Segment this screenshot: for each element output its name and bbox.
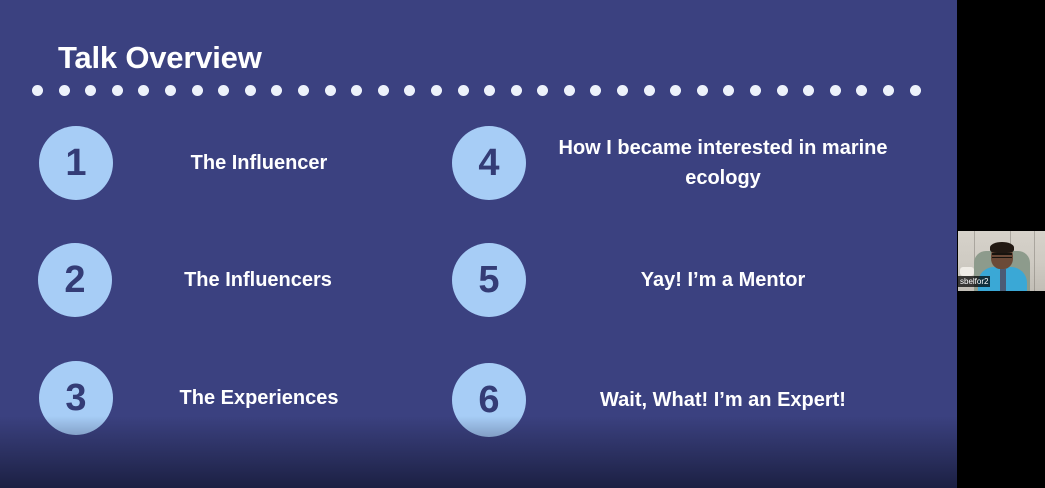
divider-dot bbox=[644, 85, 655, 96]
participant-glasses bbox=[992, 253, 1012, 258]
divider-dot bbox=[590, 85, 601, 96]
participant-video-tile[interactable]: sbelfor2 bbox=[958, 231, 1045, 291]
agenda-item-label: Wait, What! I’m an Expert! bbox=[548, 385, 898, 415]
divider-dot bbox=[138, 85, 149, 96]
agenda-item-label: The Experiences bbox=[135, 383, 383, 413]
divider-dot bbox=[830, 85, 841, 96]
divider-dot bbox=[218, 85, 229, 96]
divider-dot bbox=[458, 85, 469, 96]
divider-dot bbox=[32, 85, 43, 96]
agenda-item-6: 6 Wait, What! I’m an Expert! bbox=[452, 363, 898, 437]
agenda-item-label: Yay! I’m a Mentor bbox=[548, 265, 898, 295]
divider-dot bbox=[564, 85, 575, 96]
participant-name-label: sbelfor2 bbox=[958, 276, 990, 287]
divider-dot bbox=[351, 85, 362, 96]
agenda-number-badge: 4 bbox=[452, 126, 526, 200]
page-title: Talk Overview bbox=[58, 40, 262, 76]
divider-dot bbox=[484, 85, 495, 96]
divider-dot bbox=[617, 85, 628, 96]
divider-dot bbox=[165, 85, 176, 96]
agenda-item-5: 5 Yay! I’m a Mentor bbox=[452, 243, 898, 317]
divider-dot bbox=[431, 85, 442, 96]
agenda-item-label: The Influencer bbox=[135, 148, 383, 178]
agenda-item-label: The Influencers bbox=[134, 265, 382, 295]
divider-dot bbox=[856, 85, 867, 96]
divider-dot bbox=[271, 85, 282, 96]
divider-dot bbox=[59, 85, 70, 96]
divider-dot bbox=[511, 85, 522, 96]
participant-hair bbox=[990, 242, 1014, 253]
divider-dot bbox=[697, 85, 708, 96]
presentation-slide: Talk Overview 1 The Influencer 2 The Inf… bbox=[0, 0, 957, 488]
desk-object bbox=[960, 267, 974, 276]
agenda-number-badge: 6 bbox=[452, 363, 526, 437]
divider-dot bbox=[192, 85, 203, 96]
divider-dot bbox=[298, 85, 309, 96]
agenda-item-2: 2 The Influencers bbox=[38, 243, 382, 317]
divider-dot bbox=[404, 85, 415, 96]
screen-share-stage: Talk Overview 1 The Influencer 2 The Inf… bbox=[0, 0, 1045, 488]
divider-dot bbox=[378, 85, 389, 96]
divider-dot bbox=[85, 85, 96, 96]
divider-dot bbox=[112, 85, 123, 96]
wall-seam bbox=[1034, 231, 1035, 291]
agenda-item-3: 3 The Experiences bbox=[39, 361, 383, 435]
agenda-item-label: How I became interested in marine ecolog… bbox=[548, 133, 898, 193]
divider-dot bbox=[910, 85, 921, 96]
agenda-number-badge: 1 bbox=[39, 126, 113, 200]
divider-dot bbox=[245, 85, 256, 96]
agenda-number-badge: 5 bbox=[452, 243, 526, 317]
dotted-divider bbox=[32, 83, 908, 97]
divider-dot bbox=[537, 85, 548, 96]
agenda-number-badge: 3 bbox=[39, 361, 113, 435]
divider-dot bbox=[777, 85, 788, 96]
agenda-item-4: 4 How I became interested in marine ecol… bbox=[452, 126, 898, 200]
divider-dot bbox=[883, 85, 894, 96]
agenda-number-badge: 2 bbox=[38, 243, 112, 317]
divider-dot bbox=[803, 85, 814, 96]
divider-dot bbox=[723, 85, 734, 96]
participant-tie bbox=[1000, 269, 1006, 291]
divider-dot bbox=[670, 85, 681, 96]
divider-dot bbox=[325, 85, 336, 96]
agenda-item-1: 1 The Influencer bbox=[39, 126, 383, 200]
divider-dot bbox=[750, 85, 761, 96]
